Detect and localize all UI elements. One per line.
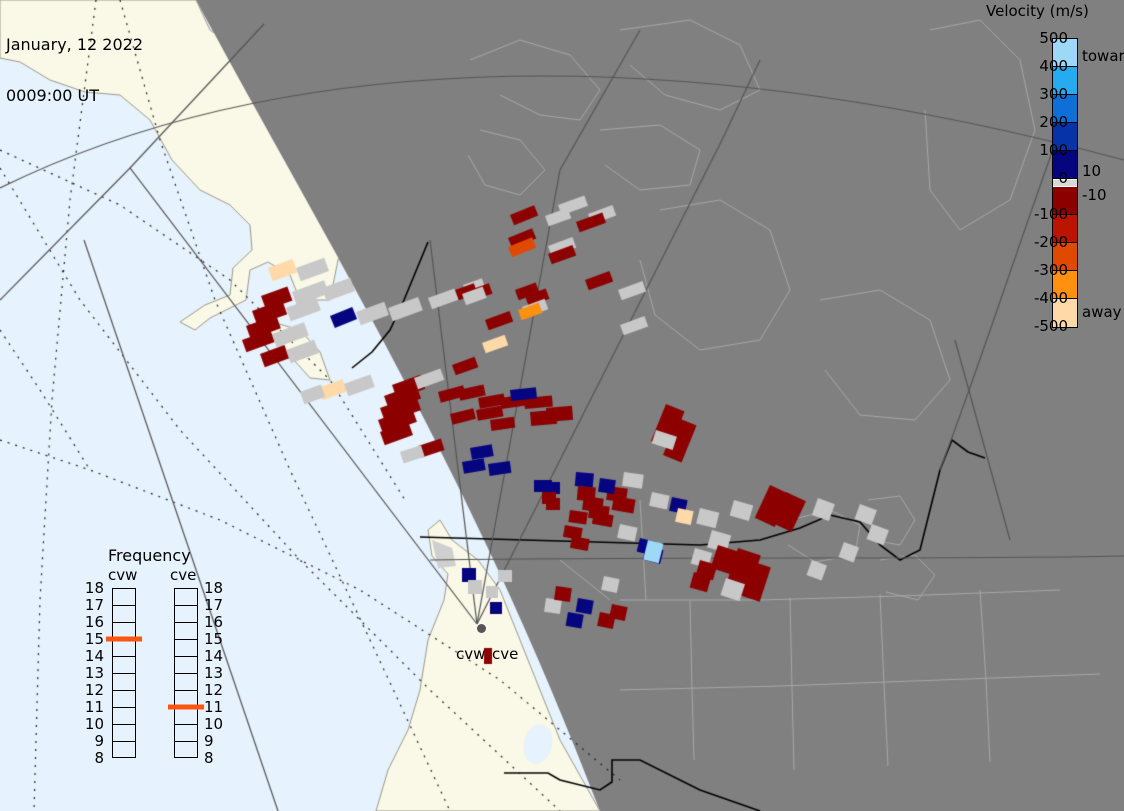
frequency-tick-label: 17 (204, 596, 223, 614)
frequency-cell (175, 674, 197, 691)
frequency-cell (175, 657, 197, 674)
colorbar-tick-label: 300 (1039, 85, 1068, 103)
colorbar-tick-label: 500 (1039, 29, 1068, 47)
colorbar-tick-label: -400 (1034, 289, 1068, 307)
frequency-cell (113, 708, 135, 725)
radar-map-application: January, 12 2022 0009:00 UT Velocity (m/… (0, 0, 1124, 811)
frequency-tick-label: 14 (204, 647, 223, 665)
frequency-tick-label: 12 (82, 681, 104, 699)
colorbar-tick-label: -200 (1034, 233, 1068, 251)
frequency-cell (113, 606, 135, 623)
frequency-cell (175, 742, 197, 759)
frequency-scale-cvw[interactable] (112, 588, 136, 758)
frequency-tick-label: 15 (82, 630, 104, 648)
frequency-column-label-cvw: cvw (108, 566, 137, 584)
colorbar-tick-label: 200 (1039, 113, 1068, 131)
colorbar-tick-label: 100 (1039, 141, 1068, 159)
colorbar-toward-label: toward (1082, 47, 1124, 65)
frequency-tick-label: 13 (82, 664, 104, 682)
frequency-tick-label: 18 (82, 579, 104, 597)
colorbar-tick-label: 400 (1039, 57, 1068, 75)
frequency-tick-label: 18 (204, 579, 223, 597)
frequency-tick-label: 16 (204, 613, 223, 631)
frequency-title: Frequency (108, 546, 191, 565)
colorbar-title: Velocity (m/s) (986, 2, 1089, 20)
radar-site-marker-dot (477, 624, 486, 633)
frequency-tick-label: 8 (204, 749, 214, 767)
frequency-tick-label: 11 (204, 698, 223, 716)
colorbar-tick-label: -500 (1034, 317, 1068, 335)
frequency-tick-label: 11 (82, 698, 104, 716)
timestamp-label: January, 12 2022 0009:00 UT (6, 2, 143, 138)
frequency-tick-label: 13 (204, 664, 223, 682)
frequency-panel: Frequency cvw18171615141312111098cve1817… (82, 546, 242, 796)
frequency-cell (175, 623, 197, 640)
colorbar-away-label: away (1082, 303, 1122, 321)
frequency-marker-cvw (106, 637, 142, 642)
frequency-tick-label: 9 (204, 732, 214, 750)
frequency-tick-label: 14 (82, 647, 104, 665)
frequency-tick-label: 9 (82, 732, 104, 750)
frequency-tick-label: 16 (82, 613, 104, 631)
frequency-cell (175, 589, 197, 606)
colorbar-tick-label: -300 (1034, 261, 1068, 279)
colorbar-tick-label: 0 (1058, 169, 1068, 187)
frequency-tick-label: 12 (204, 681, 223, 699)
frequency-column-label-cve: cve (170, 566, 196, 584)
frequency-cell (113, 725, 135, 742)
frequency-tick-label: 15 (204, 630, 223, 648)
frequency-tick-label: 10 (204, 715, 223, 733)
timestamp-time: 0009:00 UT (6, 87, 143, 104)
frequency-cell (175, 640, 197, 657)
frequency-marker-cve (168, 705, 204, 710)
colorbar-upper-threshold-label: 10 (1082, 162, 1101, 180)
frequency-tick-label: 10 (82, 715, 104, 733)
frequency-cell (175, 725, 197, 742)
velocity-colorbar-panel: Velocity (m/s) 5004003002001000-100-200-… (980, 0, 1124, 340)
frequency-cell (113, 657, 135, 674)
frequency-scale-cve[interactable] (174, 588, 198, 758)
frequency-cell (113, 674, 135, 691)
frequency-cell (113, 589, 135, 606)
colorbar-lower-threshold-label: -10 (1082, 186, 1107, 204)
frequency-tick-label: 8 (82, 749, 104, 767)
colorbar-tick-label: -100 (1034, 205, 1068, 223)
radar-site-label-cvw: cvw (456, 645, 485, 663)
frequency-cell (113, 742, 135, 759)
frequency-cell (113, 640, 135, 657)
frequency-cell (113, 691, 135, 708)
radar-site-label-cve: cve (492, 645, 518, 663)
frequency-cell (175, 708, 197, 725)
frequency-tick-label: 17 (82, 596, 104, 614)
frequency-cell (175, 606, 197, 623)
timestamp-date: January, 12 2022 (6, 36, 143, 53)
